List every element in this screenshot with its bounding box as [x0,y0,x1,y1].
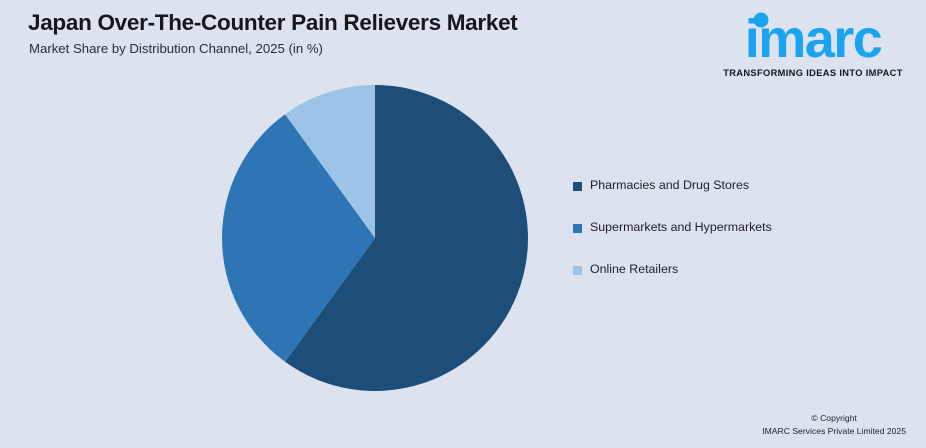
copyright-line-1: © Copyright [762,412,906,425]
imarc-logo: imarc TRANSFORMING IDEAS INTO IMPACT [718,8,908,86]
pie-chart [222,85,528,391]
chart-canvas: Japan Over-The-Counter Pain Relievers Ma… [0,0,926,448]
logo-wordmark: imarc [718,10,908,68]
chart-subtitle: Market Share by Distribution Channel, 20… [29,41,323,56]
pie-chart-svg [222,85,528,391]
logo-tagline: TRANSFORMING IDEAS INTO IMPACT [718,68,908,78]
legend-item[interactable]: Pharmacies and Drug Stores [573,178,893,220]
legend-item-label: Supermarkets and Hypermarkets [590,220,772,235]
legend-item[interactable]: Supermarkets and Hypermarkets [573,220,893,262]
page-title: Japan Over-The-Counter Pain Relievers Ma… [28,10,517,36]
copyright-notice: © Copyright IMARC Services Private Limit… [762,412,906,438]
legend-swatch-icon [573,266,582,275]
legend-swatch-icon [573,182,582,191]
legend-item[interactable]: Online Retailers [573,262,893,304]
legend-swatch-icon [573,224,582,233]
copyright-line-2: IMARC Services Private Limited 2025 [762,425,906,438]
legend-item-label: Pharmacies and Drug Stores [590,178,749,193]
chart-legend: Pharmacies and Drug StoresSupermarkets a… [573,178,893,304]
legend-item-label: Online Retailers [590,262,678,277]
